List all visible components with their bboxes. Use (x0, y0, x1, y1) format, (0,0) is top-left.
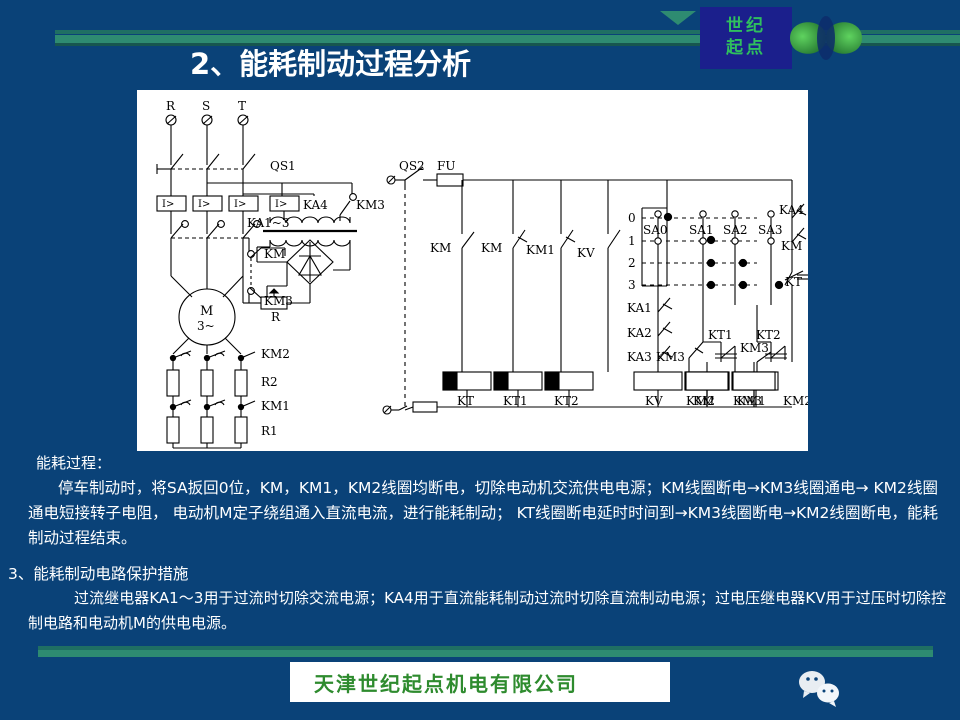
label-motor-symbol: M (200, 304, 213, 319)
footer-company-name: 天津世纪起点机电有限公司 (314, 668, 578, 697)
label-cam-pos-0: 0 (628, 211, 636, 225)
label-sa0: SA0 (643, 223, 668, 237)
label-sa1: SA1 (689, 223, 714, 237)
protection-paragraph: 过流继电器KA1～3用于过流时切除交流电源；KA4用于直流能耗制动过流时切除直流… (28, 586, 946, 636)
label-terminal-s: S (202, 99, 210, 113)
footer-company-plate: 天津世纪起点机电有限公司 (290, 662, 670, 702)
label-km1: KM1 (261, 399, 290, 413)
brand-leaf-icon (786, 11, 866, 65)
label-ka2: KA2 (627, 326, 652, 340)
brand-logo-box: 世纪 起点 (700, 7, 792, 69)
label-relay-sym-3: I> (234, 199, 246, 210)
label-contact-km3-a: KM3 (656, 350, 685, 364)
footer-triangle-accent (660, 11, 696, 25)
label-contact-km-a: KM (430, 241, 451, 255)
label-terminal-r: R (166, 99, 176, 113)
label-coil-kt2: KT2 (554, 394, 579, 408)
label-km3-main: KM3 (356, 198, 385, 212)
footer-rule-middle (38, 650, 933, 657)
label-qs1: QS1 (270, 159, 296, 173)
label-coil-kt1: KT1 (503, 394, 528, 408)
label-cam-pos-2: 2 (628, 256, 636, 270)
label-sa2: SA2 (723, 223, 748, 237)
wechat-icon (790, 665, 850, 710)
label-kt2-contact: KT2 (756, 328, 781, 342)
label-rheostat-r: R (271, 310, 281, 324)
label-coil-km1: KM1 (737, 394, 766, 408)
brand-logo-line-1: 世纪 (726, 17, 766, 37)
label-km-main: KM (264, 247, 285, 261)
label-coil-kt: KT (457, 394, 474, 408)
label-contact-km3-b: KM3 (740, 341, 769, 355)
brand-logo-line-2: 起点 (726, 39, 766, 59)
label-r1: R1 (261, 424, 278, 438)
label-relay-sym-1: I> (162, 199, 174, 210)
label-r2: R2 (261, 375, 278, 389)
label-contact-km-b: KM (481, 241, 502, 255)
label-km3-brake: KM3 (264, 294, 293, 308)
label-coil-km: KM (693, 394, 714, 408)
circuit-diagram-svg: R S T QS1 KA1~3 KA4 KM3 KM KM3 R M 3~ KM… (137, 90, 808, 451)
label-fu: FU (437, 159, 455, 173)
label-coil-km2: KM2 (783, 394, 808, 408)
page-title: 2、能耗制动过程分析 (190, 48, 710, 88)
label-terminal-t: T (238, 99, 246, 113)
page-title-text: 2、能耗制动过程分析 (190, 48, 710, 83)
label-contact-km1: KM1 (526, 243, 555, 257)
label-kt1-contact: KT1 (708, 328, 733, 342)
label-contact-km-c: KM (781, 239, 802, 253)
label-coil-kv: KV (645, 394, 663, 408)
label-cam-pos-1: 1 (628, 234, 636, 248)
label-qs2: QS2 (399, 159, 425, 173)
protection-heading: 3、能耗制动电路保护措施 (8, 562, 188, 584)
label-relay-sym-2: I> (198, 199, 210, 210)
footer-divider (0, 646, 960, 660)
process-label: 能耗过程： (36, 452, 111, 473)
label-ka3: KA3 (627, 350, 652, 364)
label-sa3: SA3 (758, 223, 783, 237)
label-contact-kv: KV (577, 246, 595, 260)
process-paragraph: 停车制动时，将SA扳回0位，KM，KM1，KM2线圈均断电，切除电动机交流供电电… (28, 476, 938, 551)
label-ka1: KA1 (627, 301, 652, 315)
label-ka1-3: KA1~3 (247, 216, 289, 230)
label-motor-phases: 3~ (197, 319, 215, 333)
circuit-diagram-panel: R S T QS1 KA1~3 KA4 KM3 KM KM3 R M 3~ KM… (137, 90, 808, 451)
label-relay-sym-4: I> (275, 199, 287, 210)
label-cam-pos-3: 3 (628, 278, 636, 292)
label-contact-kt: KT (785, 275, 802, 289)
label-contact-ka4: KA4 (779, 203, 804, 217)
label-ka4: KA4 (303, 198, 328, 212)
label-km2: KM2 (261, 347, 290, 361)
